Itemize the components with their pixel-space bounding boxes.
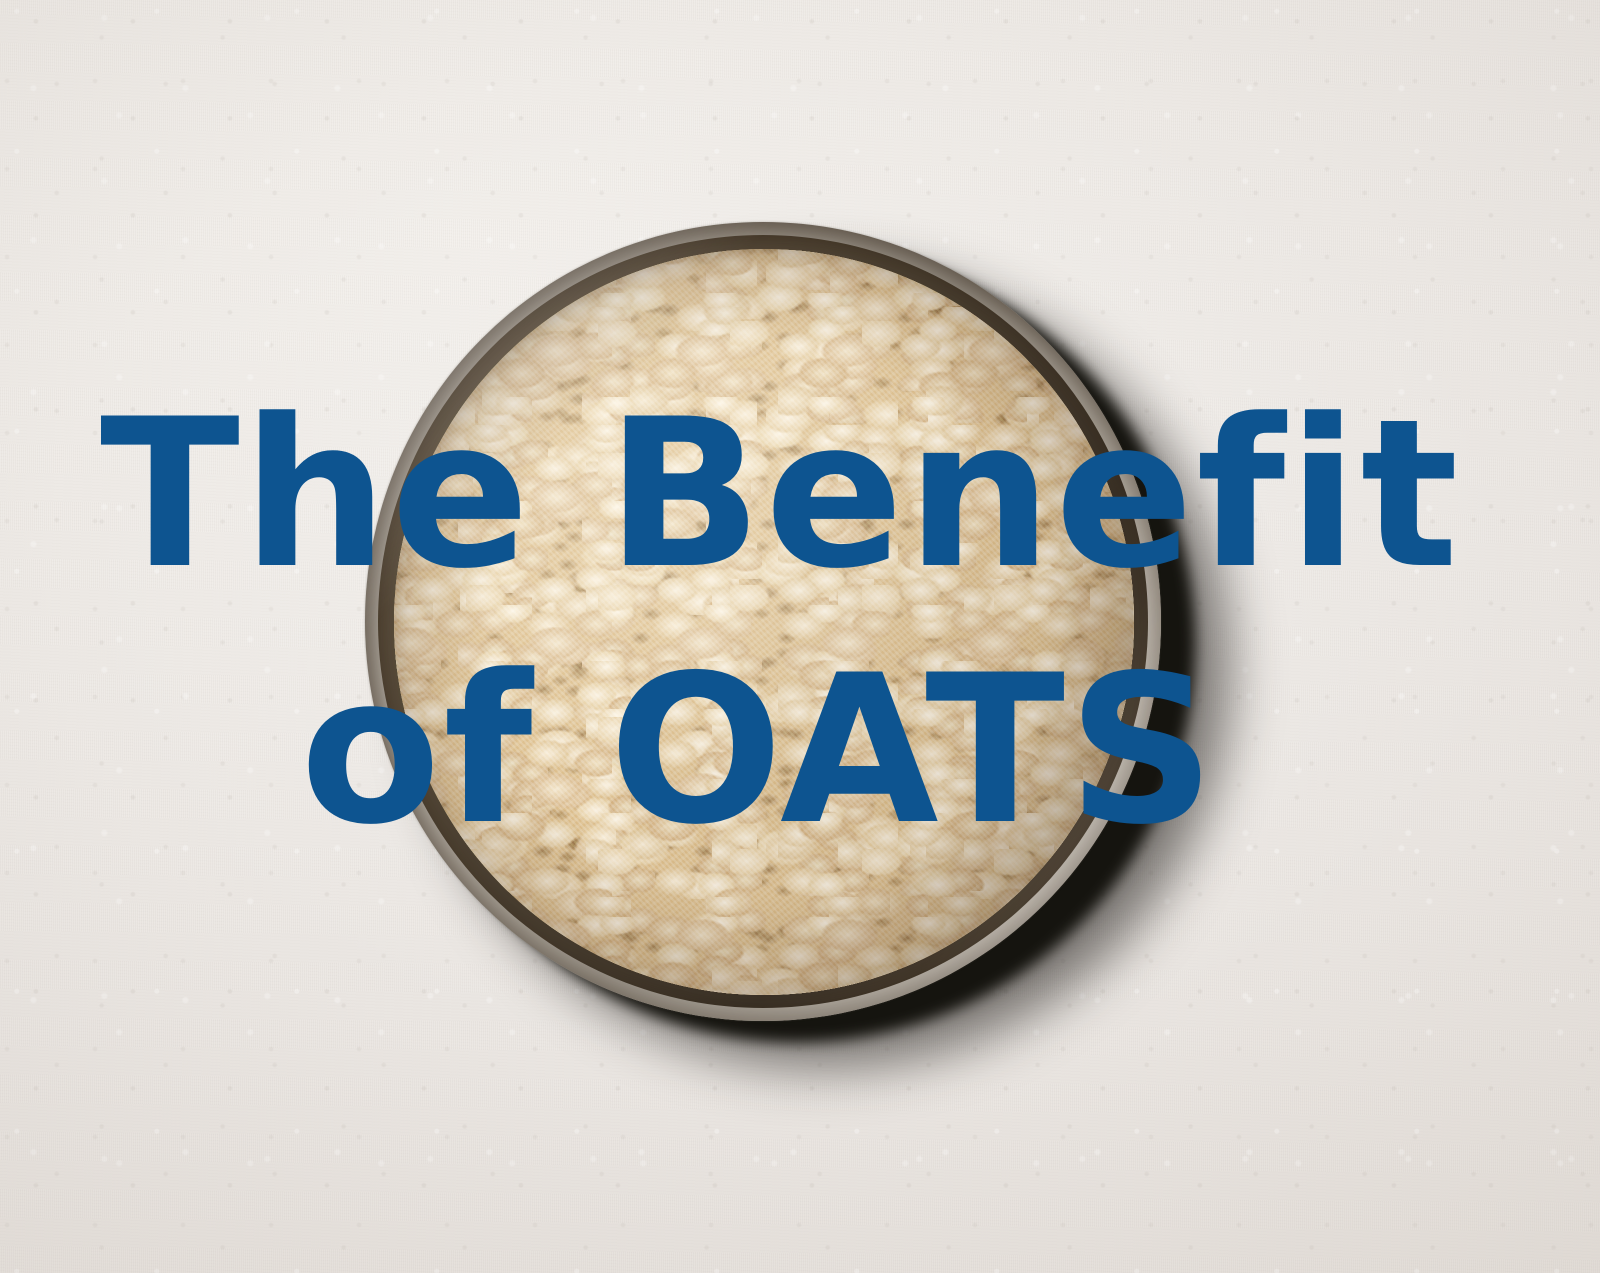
poster-canvas: The Benefit of OATS (0, 0, 1600, 1273)
rolled-oats-fill (394, 249, 1134, 995)
oat-shading-overlay (394, 249, 1134, 995)
headline-line-1: The Benefit (100, 407, 1461, 583)
headline-line-2: of OATS (300, 663, 1218, 839)
oat-bowl-photo (365, 222, 1161, 1021)
